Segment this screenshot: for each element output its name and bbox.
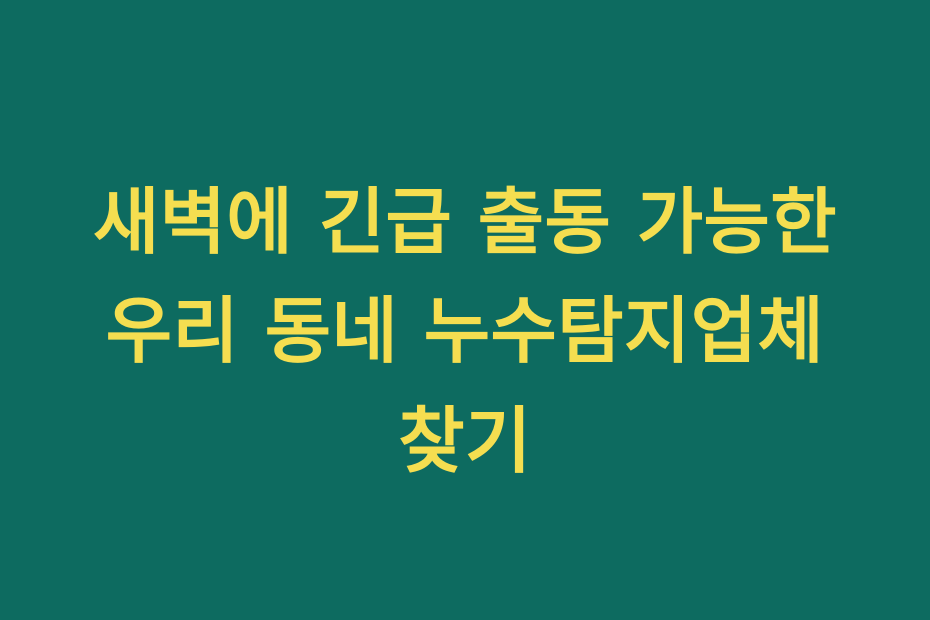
text-card-canvas: 새벽에 긴급 출동 가능한 우리 동네 누수탐지업체 찾기 <box>0 0 930 620</box>
headline-text: 새벽에 긴급 출동 가능한 우리 동네 누수탐지업체 찾기 <box>55 168 875 496</box>
